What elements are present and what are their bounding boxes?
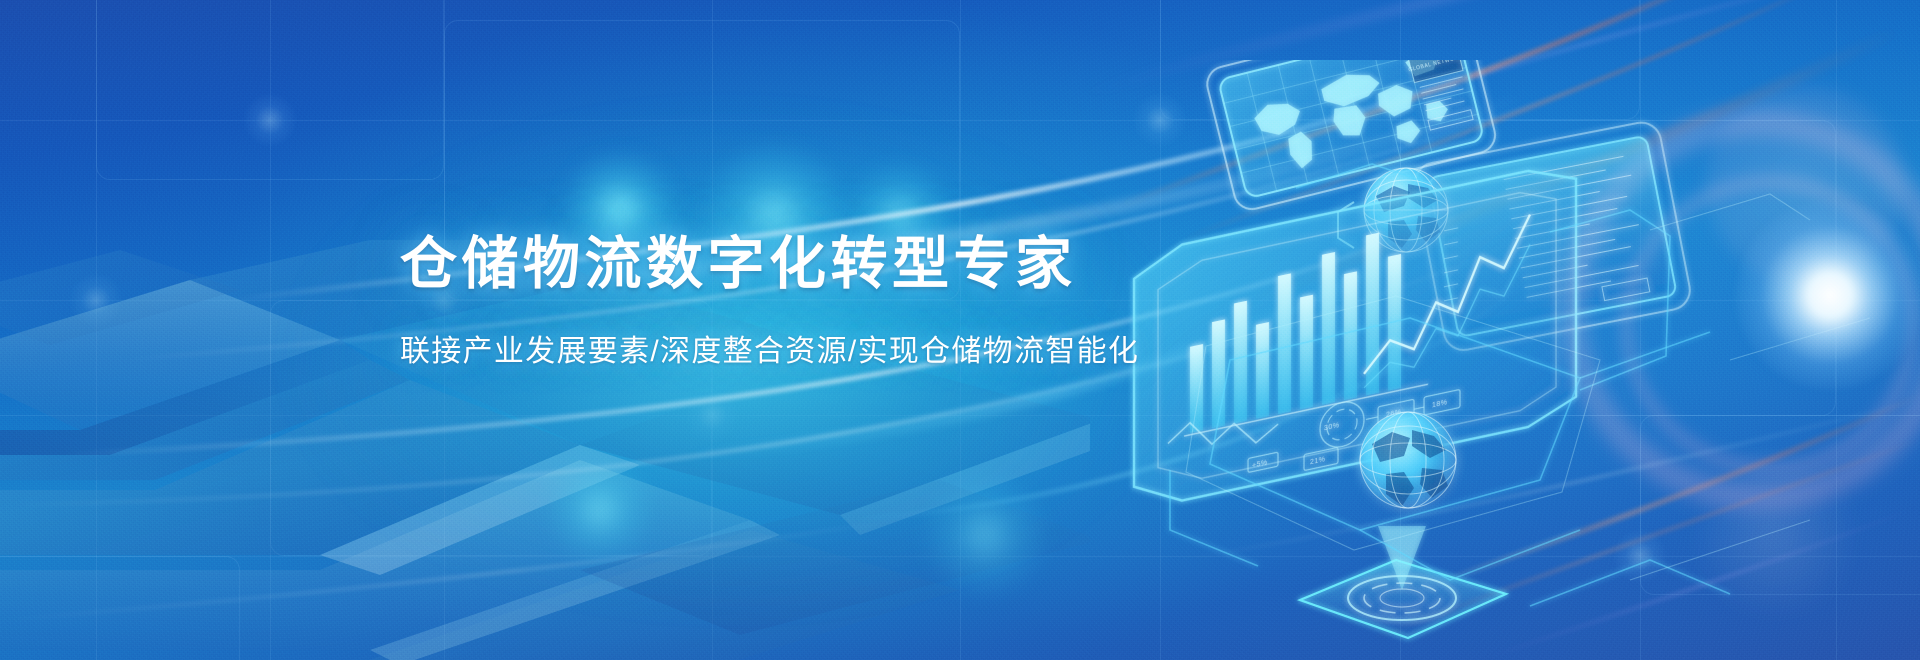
globe-icon: [1338, 168, 1448, 252]
flare-ring: [1690, 450, 1860, 620]
world-map-panel: ASIA GLOBAL NETWORK: [1203, 60, 1498, 213]
svg-text:18%: 18%: [1432, 399, 1448, 409]
svg-text:30%: 30%: [1324, 422, 1340, 432]
hologram-graphic: ASIA GLOBAL NETWORK: [1110, 60, 1920, 660]
glow-dot: [545, 455, 655, 565]
analytics-panel: 30% 26% 18% +5% 21%: [1134, 161, 1576, 511]
page-subtitle: 联接产业发展要素/深度整合资源/实现仓储物流智能化: [400, 293, 1120, 367]
flare-ring: [1560, 110, 1920, 510]
map-panel-label: ASIA: [1411, 60, 1454, 62]
hero-text-block: 仓储物流数字化转型专家 联接产业发展要素/深度整合资源/实现仓储物流智能化: [400, 236, 1120, 367]
svg-text:+5%: +5%: [1252, 459, 1268, 469]
hud-widgets: [1248, 377, 1460, 482]
hologram-base: [1300, 526, 1506, 638]
map-panel-sublabel: GLOBAL NETWORK: [1408, 60, 1463, 73]
text-panel: [1412, 119, 1694, 353]
connector-lines-faint: [1186, 194, 1870, 580]
page-title: 仓储物流数字化转型专家: [400, 236, 1120, 293]
bar-chart: [1190, 228, 1401, 433]
flare-ring: [1700, 80, 1910, 290]
globe-icon: [1360, 412, 1456, 508]
svg-text:26%: 26%: [1386, 409, 1402, 419]
flare-ring: [1620, 175, 1920, 475]
glow-dot: [920, 470, 1050, 600]
svg-text:21%: 21%: [1310, 456, 1326, 466]
hero-banner: ASIA GLOBAL NETWORK: [0, 0, 1920, 660]
lens-flare: [1735, 200, 1920, 390]
connector-lines: [1170, 164, 1730, 606]
